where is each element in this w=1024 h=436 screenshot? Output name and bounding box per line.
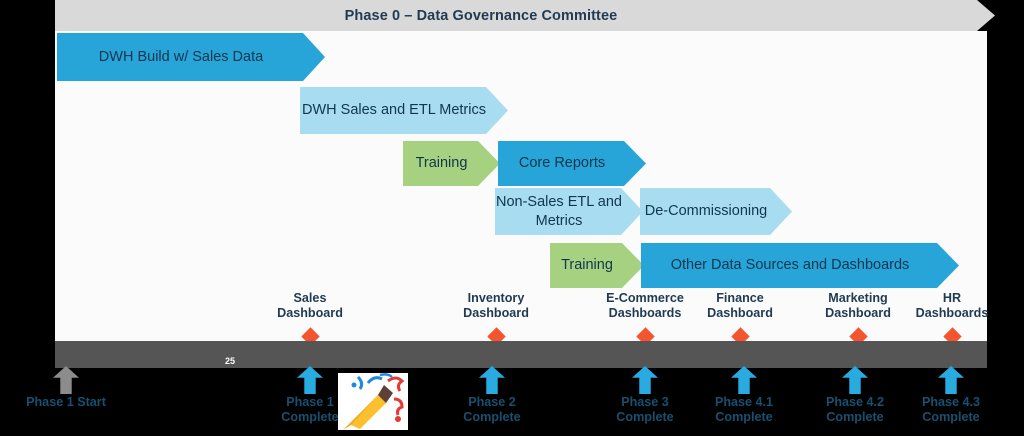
milestone-label-line1: Inventory	[426, 291, 566, 306]
phase-up-arrow-icon[interactable]	[938, 366, 964, 394]
task-bar-label: Core Reports	[498, 154, 646, 172]
phase-label-line2: Complete	[881, 410, 1021, 425]
phase-up-arrow-icon[interactable]	[53, 366, 79, 394]
task-bar[interactable]: DWH Build w/ Sales Data	[57, 33, 325, 81]
phase-label-line1: Phase 2	[422, 395, 562, 410]
timeline-tick-label: 25	[225, 356, 235, 366]
task-bar[interactable]: DWH Sales and ETL Metrics	[300, 87, 508, 134]
phase-up-arrow-icon[interactable]	[842, 366, 868, 394]
milestone-label-line2: Dashboard	[426, 306, 566, 321]
timeline-roadmap-slide: Phase 0 – Data Governance Committee DWH …	[0, 0, 1024, 436]
banner-title: Phase 0 – Data Governance Committee	[345, 8, 618, 24]
phase-banner: Phase 0 – Data Governance Committee	[55, 0, 995, 31]
milestone-label: InventoryDashboard	[426, 291, 566, 321]
party-popper-emoji	[338, 373, 408, 430]
task-bar-label: Training	[403, 154, 500, 172]
phase-label-line1: Phase 1 Start	[0, 395, 136, 410]
task-bar[interactable]: De-Commissioning	[640, 188, 792, 235]
phase-up-arrow-icon[interactable]	[297, 366, 323, 394]
phase-up-arrow-icon[interactable]	[632, 366, 658, 394]
task-bar-label: Non-Sales ETL and Metrics	[495, 193, 643, 229]
task-bar-label: DWH Sales and ETL Metrics	[300, 101, 508, 119]
milestone-label-line2: Dashboards	[882, 306, 1022, 321]
task-bar-label: Training	[550, 256, 644, 274]
task-bar-label: DWH Build w/ Sales Data	[57, 48, 325, 66]
milestone-label: SalesDashboard	[240, 291, 380, 321]
timeline-bar: 25	[55, 341, 987, 368]
task-bar-label: De-Commissioning	[640, 202, 792, 220]
phase-label: Phase 2Complete	[422, 395, 562, 426]
milestone-label-line1: Sales	[240, 291, 380, 306]
phase-label-line1: Phase 4.3	[881, 395, 1021, 410]
milestone-label-line2: Dashboard	[240, 306, 380, 321]
phase-label: Phase 1 Start	[0, 395, 136, 410]
task-bar[interactable]: Non-Sales ETL and Metrics	[495, 188, 643, 235]
task-bar-label: Other Data Sources and Dashboards	[641, 256, 959, 274]
phase-label-line2: Complete	[422, 410, 562, 425]
task-bar[interactable]: Core Reports	[498, 141, 646, 186]
milestone-label-line1: HR	[882, 291, 1022, 306]
milestone-label: HRDashboards	[882, 291, 1022, 321]
phase-label: Phase 4.3Complete	[881, 395, 1021, 426]
phase-up-arrow-icon[interactable]	[731, 366, 757, 394]
phase-up-arrow-icon[interactable]	[479, 366, 505, 394]
task-bar[interactable]: Other Data Sources and Dashboards	[641, 243, 959, 288]
